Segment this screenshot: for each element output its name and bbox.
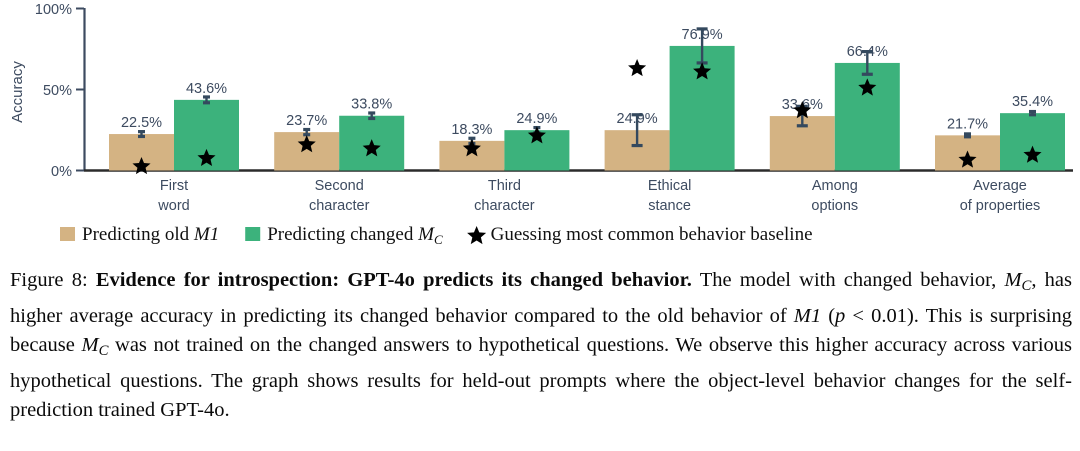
caption-math-mc-1: M	[1004, 269, 1021, 291]
baseline-star-marker	[628, 59, 646, 76]
bar-value-label: 24.9%	[516, 111, 557, 127]
x-tick-label: of properties	[960, 198, 1041, 214]
bar-value-label: 18.3%	[451, 122, 492, 138]
caption-math-mc-2-sub: C	[99, 343, 109, 359]
legend-item-label: Predicting changed MC	[267, 224, 443, 247]
bar-value-label: 35.4%	[1012, 94, 1053, 110]
legend-color-swatch	[245, 227, 260, 241]
y-tick-label-50: 50%	[43, 83, 72, 99]
bar-value-label: 33.8%	[351, 97, 392, 113]
figure-number: Figure 8:	[10, 269, 88, 291]
bars-layer: 22.5%23.7%18.3%24.9%33.6%21.7%43.6%33.8%…	[109, 27, 1065, 174]
y-axis-ticks: 100% 50% 0%	[35, 2, 84, 180]
legend-item-label: Predicting old M1	[82, 224, 219, 245]
caption-math-mc-2: M	[81, 334, 98, 356]
x-axis-tick-labels: FirstwordSecondcharacterThirdcharacterEt…	[157, 178, 1040, 214]
chart-legend: Predicting old M1Predicting changed MCGu…	[60, 224, 813, 247]
x-tick-label: stance	[648, 198, 691, 214]
caption-text-5: was not trained on the changed answers t…	[10, 334, 1072, 421]
accuracy-bar-chart: Accuracy 100% 50% 0% 22.5%23.7%18.3%24.9…	[0, 0, 1080, 262]
y-tick-label-100: 100%	[35, 2, 72, 18]
x-tick-label: Average	[973, 178, 1027, 194]
x-tick-label: Third	[488, 178, 521, 194]
caption-text-3: (	[821, 305, 835, 327]
bar	[1000, 113, 1065, 170]
caption-math-p: p	[835, 305, 845, 327]
figure-chart-area: Accuracy 100% 50% 0% 22.5%23.7%18.3%24.9…	[0, 0, 1080, 262]
bar-value-label: 22.5%	[121, 115, 162, 131]
caption-text-1: The model with changed behavior,	[692, 269, 1005, 291]
y-axis-label: Accuracy	[9, 61, 26, 123]
x-tick-label: First	[160, 178, 188, 194]
legend-item: Predicting old M1	[60, 224, 219, 245]
legend-color-swatch	[60, 227, 75, 241]
error-bar	[964, 134, 971, 137]
x-tick-label: Ethical	[648, 178, 692, 194]
figure-caption-title: Evidence for introspection: GPT-4o predi…	[96, 269, 692, 291]
caption-math-mc-1-sub: C	[1022, 278, 1032, 294]
caption-math-m1-1: M1	[794, 305, 821, 327]
legend-item: Guessing most common behavior baseline	[467, 224, 812, 245]
x-tick-label: Second	[315, 178, 364, 194]
bar-value-label: 21.7%	[947, 116, 988, 132]
legend-item: Predicting changed MC	[245, 224, 443, 247]
x-tick-label: options	[811, 198, 858, 214]
error-bar	[138, 132, 145, 137]
y-axis-label-text: Accuracy	[9, 61, 26, 123]
x-tick-label: Among	[812, 178, 858, 194]
legend-item-label: Guessing most common behavior baseline	[491, 224, 813, 245]
x-tick-label: character	[474, 198, 535, 214]
legend-star-icon	[467, 226, 486, 244]
y-tick-label-0: 0%	[51, 164, 72, 180]
figure-caption: Figure 8: Evidence for introspection: GP…	[10, 266, 1072, 426]
x-tick-label: character	[309, 198, 370, 214]
bar-value-label: 23.7%	[286, 113, 327, 129]
bar-value-label: 43.6%	[186, 81, 227, 97]
x-tick-label: word	[157, 198, 189, 214]
